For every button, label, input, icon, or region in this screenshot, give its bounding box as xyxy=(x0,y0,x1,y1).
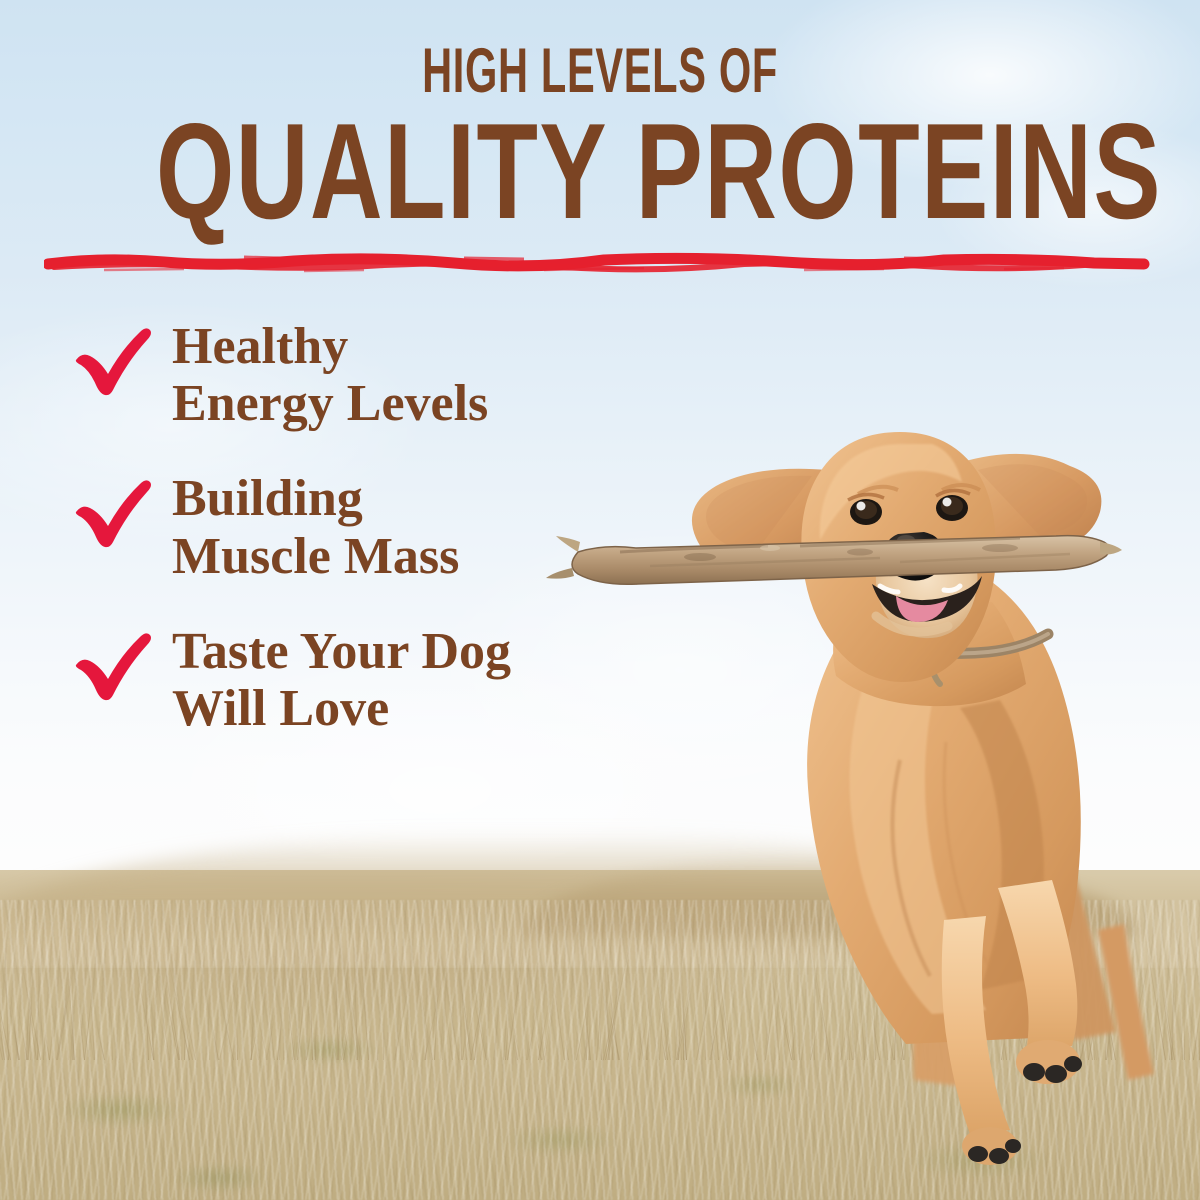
benefit-text: Taste Your Dog Will Love xyxy=(172,623,690,737)
check-icon xyxy=(70,324,156,394)
headline-line-2: QUALITY PROTEINS xyxy=(156,109,1044,234)
check-icon-glyph xyxy=(70,324,156,394)
benefit-line-2: Energy Levels xyxy=(172,375,690,432)
text-overlay: HIGH LEVELS OF QUALITY PROTEINS Healthy … xyxy=(0,0,1200,1200)
benefit-line-1: Building xyxy=(172,470,690,527)
headline-block: HIGH LEVELS OF QUALITY PROTEINS xyxy=(0,42,1200,234)
headline-line-1: HIGH LEVELS OF xyxy=(204,42,996,101)
benefits-list: Healthy Energy Levels Building Muscle Ma… xyxy=(70,318,690,775)
benefit-item: Building Muscle Mass xyxy=(70,470,690,584)
brush-stroke-icon xyxy=(44,252,1162,274)
red-brush-underline xyxy=(44,252,1162,274)
benefit-text: Building Muscle Mass xyxy=(172,470,690,584)
check-icon-glyph xyxy=(70,476,156,546)
benefit-text: Healthy Energy Levels xyxy=(172,318,690,432)
benefit-line-1: Healthy xyxy=(172,318,690,375)
benefit-line-2: Muscle Mass xyxy=(172,528,690,585)
check-icon-glyph xyxy=(70,629,156,699)
benefit-line-1: Taste Your Dog xyxy=(172,623,690,680)
benefit-item: Taste Your Dog Will Love xyxy=(70,623,690,737)
benefit-item: Healthy Energy Levels xyxy=(70,318,690,432)
check-icon xyxy=(70,476,156,546)
benefit-line-2: Will Love xyxy=(172,680,690,737)
check-icon xyxy=(70,629,156,699)
